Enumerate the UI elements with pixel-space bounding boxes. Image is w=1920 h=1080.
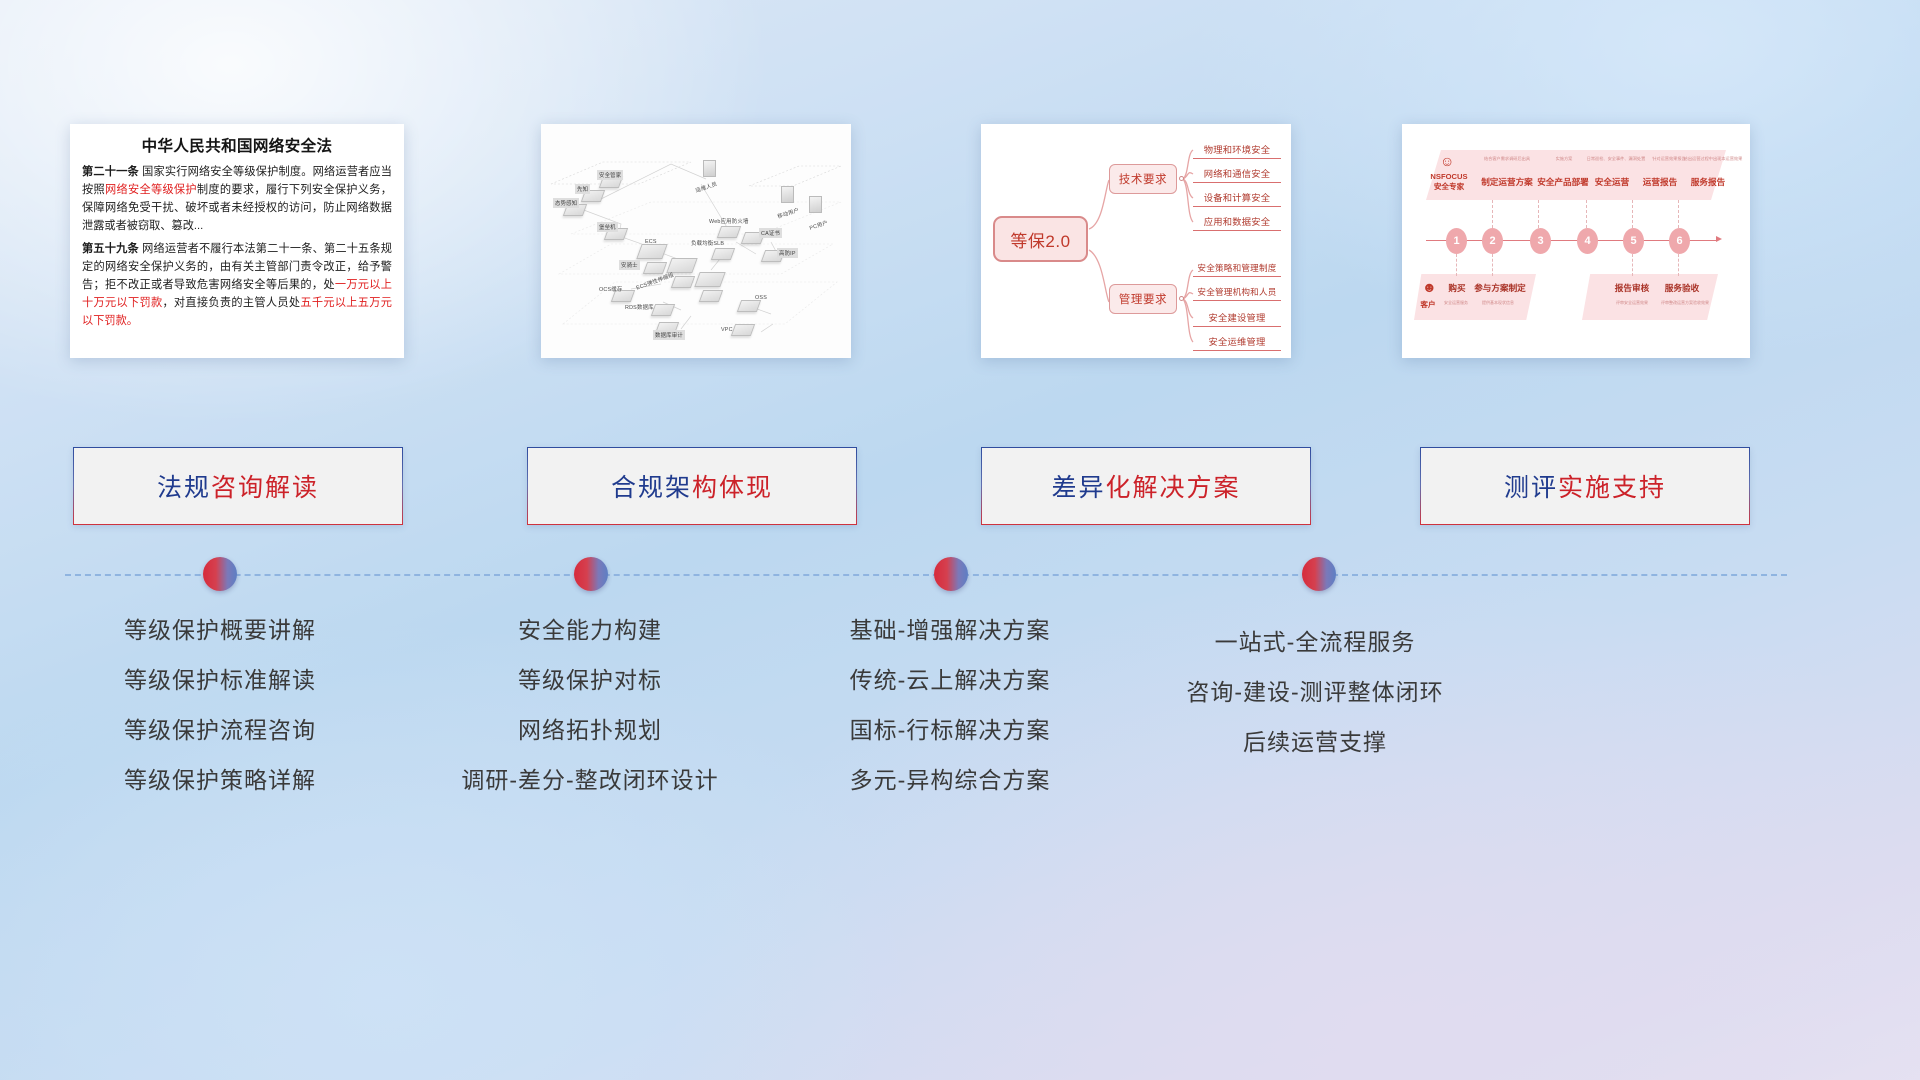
law-article-21: 第二十一条 国家实行网络安全等级保护制度。网络运营者应当按照网络安全等级保护制度…	[82, 163, 392, 236]
timeline-node-4[interactable]	[1302, 557, 1336, 591]
timeline-bottom-sub-2: 提供基本现状信息	[1464, 300, 1532, 306]
list-item: 等级保护流程咨询	[60, 705, 380, 755]
mindmap-leaf-mgmt-4: 安全运维管理	[1193, 334, 1281, 351]
timeline-dash-7	[1492, 254, 1493, 276]
mindmap-leaf-tech-4: 应用和数据安全	[1193, 214, 1281, 231]
list-item: 后续运营支撑	[1150, 717, 1480, 767]
brand-subtitle: 安全专家	[1420, 182, 1478, 191]
banner-3-red: 化解决方案	[1106, 474, 1241, 502]
arch-label-ecs: ECS	[643, 238, 659, 246]
law-body: 中华人民共和国网络安全法 第二十一条 国家实行网络安全等级保护制度。网络运营者应…	[70, 124, 404, 342]
timeline-node-2[interactable]	[574, 557, 608, 591]
timeline-node-1[interactable]	[203, 557, 237, 591]
feature-column-4: 一站式-全流程服务 咨询-建设-测评整体闭环 后续运营支撑	[1150, 617, 1480, 767]
list-item: 等级保护对标	[430, 655, 750, 705]
feature-column-2: 安全能力构建 等级保护对标 网络拓扑规划 调研-差分-整改闭环设计	[430, 605, 750, 805]
mindmap-leaf-tech-3: 设备和计算安全	[1193, 190, 1281, 207]
expert-person-icon: ☺	[1440, 154, 1454, 168]
arch-icon-ops-server	[703, 160, 716, 177]
list-item: 多元-异构综合方案	[790, 755, 1110, 805]
mindmap-branch-technical: 技术要求	[1109, 164, 1177, 194]
banner-compliance-architecture[interactable]: 合规架构体现	[527, 447, 857, 525]
list-item: 网络拓扑规划	[430, 705, 750, 755]
brand-name: NSFOCUS	[1420, 172, 1478, 181]
article-21-label: 第二十一条	[82, 166, 139, 178]
timeline-dash-8	[1632, 254, 1633, 276]
timeline-top-label-5: 服务报告	[1682, 176, 1734, 188]
mindmap: 等保2.0 技术要求 物理和环境安全 网络和通信安全 设备和计算安全 应用和数据…	[981, 124, 1291, 358]
banner-2-blue: 合规架	[611, 474, 692, 502]
timeline-bottom-sub-4: 评审整改运营方案验收效果	[1648, 300, 1722, 306]
timeline-bottom-label-4: 服务验收	[1656, 282, 1708, 294]
list-item: 国标-行标解决方案	[790, 705, 1110, 755]
banner-2-text: 合规架构体现	[611, 468, 773, 504]
poster-stage: 中华人民共和国网络安全法 第二十一条 国家实行网络安全等级保护制度。网络运营者应…	[0, 0, 1920, 1080]
feature-column-3: 基础-增强解决方案 传统-云上解决方案 国标-行标解决方案 多元-异构综合方案	[790, 605, 1110, 805]
cards-row: 中华人民共和国网络安全法 第二十一条 国家实行网络安全等级保护制度。网络运营者应…	[0, 124, 1920, 364]
list-item: 等级保护概要讲解	[60, 605, 380, 655]
banner-2-red: 构体现	[692, 474, 773, 502]
card-law-text[interactable]: 中华人民共和国网络安全法 第二十一条 国家实行网络安全等级保护制度。网络运营者应…	[70, 124, 404, 358]
arch-label-oss: OSS	[753, 294, 769, 302]
arch-label-vpc: VPC	[719, 326, 735, 334]
service-timeline: ☺ NSFOCUS 安全专家 ☻ 客户 结合客户需求调研后出具 制定运营方案 实…	[1402, 124, 1750, 358]
list-item: 一站式-全流程服务	[1150, 617, 1480, 667]
timeline-dash-5	[1678, 200, 1679, 228]
arch-label-rds: RDS数据库	[623, 302, 656, 312]
banner-1-red: 咨询解读	[211, 474, 319, 502]
arch-icon-pc-user	[809, 196, 822, 213]
article-21-highlight: 网络安全等级保护	[105, 184, 197, 196]
mindmap-leaf-mgmt-2: 安全管理机构和人员	[1193, 286, 1281, 301]
mindmap-leaf-mgmt-3: 安全建设管理	[1193, 310, 1281, 327]
banner-1-blue: 法规	[157, 474, 211, 502]
banner-4-red: 实施支持	[1558, 474, 1666, 502]
law-article-59: 第五十九条 网络运营者不履行本法第二十一条、第二十五条规定的网络安全保护义务的，…	[82, 240, 392, 331]
mindmap-collapse-icon-management[interactable]	[1179, 296, 1184, 301]
timeline-bottom-label-3: 报告审核	[1606, 282, 1658, 294]
mindmap-root: 等保2.0	[993, 216, 1088, 262]
timeline-arrow-icon	[1716, 236, 1722, 242]
timeline-dashed-line	[65, 574, 1787, 576]
arch-node-ecs-4	[694, 272, 725, 287]
timeline-dash-2	[1538, 200, 1539, 228]
feature-column-1: 等级保护概要讲解 等级保护标准解读 等级保护流程咨询 等级保护策略详解	[60, 605, 380, 805]
mindmap-collapse-icon-technical[interactable]	[1179, 176, 1184, 181]
arch-label-situational-awareness: 态势感知	[553, 198, 579, 208]
customer-person-icon: ☻	[1422, 280, 1437, 294]
article-59-label: 第五十九条	[82, 243, 139, 255]
feature-lists: 等级保护概要讲解 等级保护标准解读 等级保护流程咨询 等级保护策略详解 安全能力…	[0, 605, 1920, 815]
timeline-dash-4	[1632, 200, 1633, 228]
timeline-band-customer-right	[1582, 274, 1718, 320]
arch-label-anti-ddos-ip: 高防IP	[777, 248, 798, 258]
law-title: 中华人民共和国网络安全法	[82, 134, 392, 156]
article-59-part2: ，对直接负责的主管人员处	[162, 297, 300, 309]
timeline-step-3[interactable]: 3	[1530, 228, 1551, 254]
arch-label-slb: 负载均衡SLB	[689, 238, 726, 248]
banner-4-blue: 测评	[1504, 474, 1558, 502]
arch-label-waf: Web应用防火墙	[707, 216, 751, 226]
list-item: 安全能力构建	[430, 605, 750, 655]
arch-icon-mobile-user	[781, 186, 794, 203]
timeline-step-6[interactable]: 6	[1669, 228, 1690, 254]
architecture-diagram: 基础合规架构 增强合规架构 阿里云	[541, 124, 851, 358]
card-mindmap-dengbao[interactable]: 等保2.0 技术要求 物理和环境安全 网络和通信安全 设备和计算安全 应用和数据…	[981, 124, 1291, 358]
timeline-dash-1	[1492, 200, 1493, 228]
mindmap-leaf-mgmt-1: 安全策略和管理制度	[1193, 262, 1281, 277]
progress-timeline	[0, 555, 1920, 605]
arch-label-db-audit: 数据库审计	[653, 330, 685, 340]
arch-label-anqishi: 安骑士	[619, 260, 640, 270]
list-item: 等级保护标准解读	[60, 655, 380, 705]
card-service-timeline[interactable]: ☺ NSFOCUS 安全专家 ☻ 客户 结合客户需求调研后出具 制定运营方案 实…	[1402, 124, 1750, 358]
banner-1-text: 法规咨询解读	[157, 468, 319, 504]
timeline-top-sub-5: 给出运营过程中出现本运营效果	[1680, 156, 1746, 162]
timeline-top-label-4: 运营报告	[1634, 176, 1686, 188]
timeline-step-2[interactable]: 2	[1482, 228, 1503, 254]
banner-4-text: 测评实施支持	[1504, 468, 1666, 504]
arch-label-ocs-cache: OCS缓存	[597, 284, 624, 294]
timeline-dash-3	[1586, 200, 1587, 228]
banner-differentiated-solution[interactable]: 差异化解决方案	[981, 447, 1311, 525]
timeline-top-sub-1: 结合客户需求调研后出具	[1474, 156, 1540, 162]
timeline-node-3[interactable]	[934, 557, 968, 591]
banner-evaluation-support[interactable]: 测评实施支持	[1420, 447, 1750, 525]
mindmap-leaf-tech-2: 网络和通信安全	[1193, 166, 1281, 183]
arch-label-ca-cert: CA证书	[759, 228, 782, 238]
banner-3-blue: 差异	[1051, 474, 1105, 502]
banner-3-text: 差异化解决方案	[1051, 468, 1240, 504]
banner-row: 法规咨询解读 合规架构体现 差异化解决方案 测评实施支持	[0, 447, 1920, 525]
timeline-step-1[interactable]: 1	[1446, 228, 1467, 254]
list-item: 传统-云上解决方案	[790, 655, 1110, 705]
arch-label-security-butler: 安全管家	[597, 170, 623, 180]
mindmap-leaf-tech-1: 物理和环境安全	[1193, 142, 1281, 159]
arch-node-ecs	[636, 244, 667, 259]
list-item: 咨询-建设-测评整体闭环	[1150, 667, 1480, 717]
list-item: 等级保护策略详解	[60, 755, 380, 805]
timeline-dash-6	[1456, 254, 1457, 276]
card-cloud-architecture[interactable]: 基础合规架构 增强合规架构 阿里云	[541, 124, 851, 358]
list-item: 调研-差分-整改闭环设计	[430, 755, 750, 805]
timeline-bottom-label-2: 参与方案制定	[1466, 282, 1534, 294]
timeline-top-label-3: 安全运营	[1584, 176, 1640, 188]
timeline-step-4[interactable]: 4	[1577, 228, 1598, 254]
mindmap-branch-management: 管理要求	[1109, 284, 1177, 314]
arch-label-xianzhi: 先知	[575, 184, 590, 194]
list-item: 基础-增强解决方案	[790, 605, 1110, 655]
timeline-step-5[interactable]: 5	[1623, 228, 1644, 254]
banner-regulation-consulting[interactable]: 法规咨询解读	[73, 447, 403, 525]
arch-label-bastion-host: 堡垒机	[597, 222, 618, 232]
timeline-dash-9	[1678, 254, 1679, 276]
